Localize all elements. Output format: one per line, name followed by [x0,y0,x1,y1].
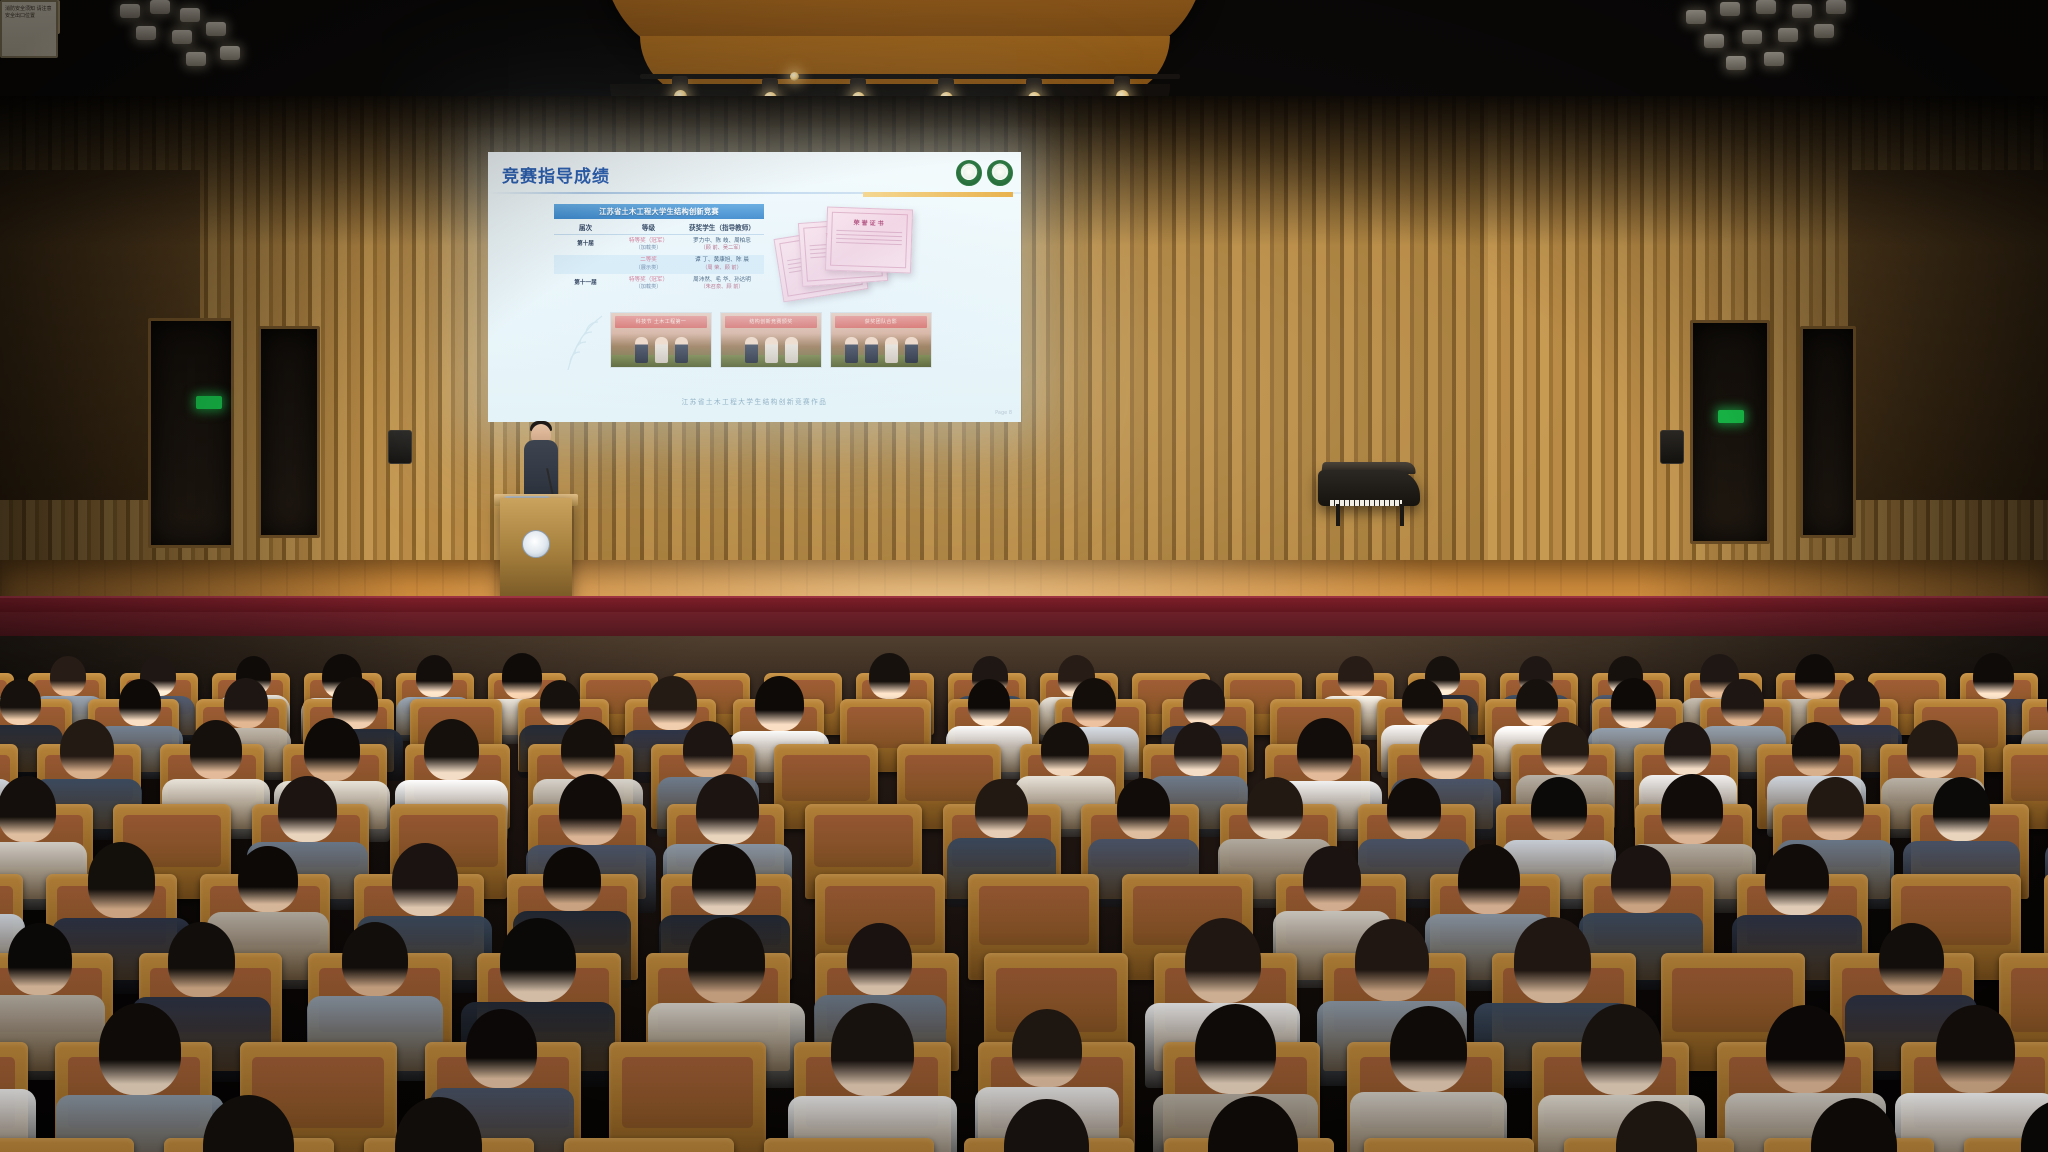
exit-sign-left [196,396,222,409]
audience-member-head [1973,653,2014,699]
auditorium-seat[interactable] [1364,1138,1534,1152]
grand-piano-leg-1 [1336,504,1340,526]
audience-member-head [831,1003,914,1096]
audience-member-head [1721,679,1763,726]
audience-member-head [1247,777,1302,839]
audience-member-head [1303,846,1361,911]
audience-member-head [0,679,41,725]
cell-grade: 特等奖（冠军） （加载类） [617,277,680,292]
audience-member-head [1807,777,1864,841]
audience-member-head [1195,1004,1276,1094]
audience-member-head [1402,679,1443,725]
door-left-1[interactable] [148,318,234,548]
auditorium-seat[interactable] [0,1138,134,1152]
audience-member-head [416,655,453,697]
cell-students: 谭 丁、黄康旭、陈 晨 （周 荣、顾 前） [680,257,764,272]
audience-member-head [1541,722,1589,775]
audience-member-head [1458,844,1520,913]
grand-piano-keys [1330,500,1402,506]
audience-member-head [540,680,580,725]
grade-text: 特等奖（冠军） [629,238,668,244]
audience-member-head [466,1009,536,1088]
audience-member-head [696,774,759,844]
audience-member-head [1664,722,1712,775]
lighting-truss [640,74,1180,79]
presentation-slide: 竞赛指导成绩 江苏省土木工程大学生结构创新竞赛 届次 等级 获奖学生（指导教师）… [488,152,1021,422]
audience-member-head [88,842,156,918]
grade-subtext: （展示类） [617,265,680,272]
auditorium-seat[interactable] [564,1138,734,1152]
audience-member-head [342,922,408,996]
audience-member-head [1611,845,1672,913]
award-photo-strip: 科技节 土木工程第一 结构创新竞赛颁奖 获奖团队合影 [610,312,932,368]
stage-light-8 [790,72,799,81]
audience-member-head [1041,722,1089,776]
auditorium-scene: 请勿大声喧哗 消防安全须知 请注意安全出口位置 竞赛指导成绩 江苏省土木工程大学… [0,0,2048,1152]
audience-member-head [424,719,479,781]
door-right-1[interactable] [1690,320,1770,544]
audience-member-head [1183,679,1225,726]
slide-accent-bar [863,192,1013,197]
audience-member-head [168,922,236,998]
audience-member-head [502,653,543,699]
audience-member-head [692,844,756,915]
audience-member-head [1765,844,1828,915]
audience-member-head [1766,1005,1845,1093]
audience-member-head [1907,720,1958,777]
audience-member-head [869,653,910,699]
certificate-images: 荣誉证书 荣誉证书 荣誉证书 [778,208,928,303]
table-row: 二等奖 （展示类） 谭 丁、黄康旭、陈 晨 （周 荣、顾 前） [554,255,764,275]
audience-member-head [1839,679,1880,725]
student-names: 罗力中、陈 岐、周柏忠 [693,238,751,244]
university-emblem-2-icon [987,160,1013,186]
audience-member-head [847,923,911,995]
audience-member-head [119,679,161,727]
audience-member-head [304,718,360,781]
cell-students: 罗力中、陈 岐、周柏忠 （顾 前、吴二军） [680,238,764,253]
door-right-2[interactable] [1800,326,1856,538]
audience-member-head [1355,919,1428,1001]
teacher-names: （周 荣、顾 前） [680,265,764,272]
audience-member-head [648,676,696,730]
audience-member-head [190,720,243,779]
award-photo-2: 结构创新竞赛颁奖 [720,312,822,368]
audience-member-head [224,678,268,728]
audience-member-head [1072,678,1116,727]
lectern-emblem-icon [522,530,550,558]
university-emblem-1-icon [956,160,982,186]
photo-banner-text: 科技节 土木工程第一 [615,316,707,328]
wall-speaker-right [1660,430,1684,464]
audience-member-head [1185,918,1261,1003]
audience-member-head [500,918,575,1002]
audience-member-head [968,679,1010,726]
audience-member-head [0,776,56,842]
audience-member-head [1879,923,1944,995]
photo-banner-text: 结构创新竞赛颁奖 [725,316,817,328]
audience-member-head [1611,678,1655,728]
grade-text: 特等奖（冠军） [629,277,668,283]
projection-screen: 竞赛指导成绩 江苏省土木工程大学生结构创新竞赛 届次 等级 获奖学生（指导教师）… [488,152,1021,422]
student-names: 谭 丁、黄康旭、陈 晨 [695,257,749,263]
audience-member-head [99,1003,181,1095]
grade-subtext: （加载类） [617,245,680,252]
table-row: 第十届 特等奖（冠军） （加载类） 罗力中、陈 岐、周柏忠 （顾 前、吴二军） [554,235,764,255]
slide-logos [956,160,1013,186]
audience-member-head [278,776,337,842]
audience-member-head [1297,718,1353,780]
wall-speaker-left [388,430,412,464]
grand-piano-leg-2 [1400,504,1404,526]
door-left-2[interactable] [258,326,320,538]
audience-member-head [1117,778,1171,838]
award-photo-3: 获奖团队合影 [830,312,932,368]
awards-table: 江苏省土木工程大学生结构创新竞赛 届次 等级 获奖学生（指导教师） 第十届 特等… [554,204,764,294]
audience-member-head [1516,679,1558,726]
table-row: 第十一届 特等奖（冠军） （加载类） 周沛然、毛 华、孙达明 （朱召泉、顾 前） [554,274,764,294]
audience-member-head [1514,917,1590,1003]
audience-member-head [1531,777,1587,840]
audience-member-head [683,721,733,777]
cell-session: 第十届 [554,241,617,249]
column-header-grade: 等级 [617,222,680,232]
column-header-session: 届次 [554,222,617,232]
grade-subtext: （加载类） [617,284,680,291]
auditorium-seat[interactable] [764,1138,934,1152]
slide-page-number: Page 8 [995,410,1012,416]
audience-member-head [975,779,1028,838]
audience-member-head [60,719,114,779]
slide-title: 竞赛指导成绩 [502,162,610,187]
audience-member-head [1338,656,1373,696]
cell-students: 周沛然、毛 华、孙达明 （朱召泉、顾 前） [680,277,764,292]
student-names: 周沛然、毛 华、孙达明 [693,277,751,283]
teacher-names: （顾 前、吴二军） [680,245,764,252]
award-photo-1: 科技节 土木工程第一 [610,312,712,368]
grade-text: 二等奖 [640,257,657,263]
audience-member-head [688,917,765,1003]
audience-member-head [8,923,72,994]
audience-area [0,636,2048,1152]
audience-member-head [50,656,86,696]
auditorium-seat[interactable] [609,1042,766,1152]
audience-member-head [1795,654,1835,699]
photo-banner-text: 获奖团队合影 [835,316,927,328]
audience-member-head [1012,1009,1082,1088]
audience-member-head [1792,722,1840,776]
cell-grade: 二等奖 （展示类） [617,257,680,272]
audience-member-head [1581,1004,1662,1095]
audience-member-head [1661,774,1723,843]
audience-member-head [1933,777,1990,841]
audience-member-head [561,719,615,779]
slide-caption: 江苏省土木工程大学生结构创新竞赛作品 [488,396,1021,406]
teacher-names: （朱召泉、顾 前） [680,284,764,291]
audience-member-head [559,774,622,845]
audience-member-head [238,846,298,913]
cell-grade: 特等奖（冠军） （加载类） [617,238,680,253]
column-header-students: 获奖学生（指导教师） [680,222,764,232]
audience-member-head [392,843,458,917]
wheat-decoration-icon [556,312,616,376]
audience-member-head [1174,722,1223,776]
awards-table-header: 江苏省土木工程大学生结构创新竞赛 [554,204,764,219]
audience-member-head [755,676,804,731]
audience-member-head [1936,1005,2015,1093]
audience-member-head [543,847,600,911]
exit-sign-right [1718,410,1744,423]
certificate-3: 荣誉证书 [825,207,913,274]
wall-notice-right: 消防安全须知 请注意安全出口位置 [0,0,58,58]
audience-member-head [1387,778,1442,839]
awards-table-columns: 届次 等级 获奖学生（指导教师） [554,219,764,235]
audience-member-head [1419,719,1473,779]
audience-member-head [1390,1006,1467,1092]
cell-session: 第十一届 [554,280,617,288]
